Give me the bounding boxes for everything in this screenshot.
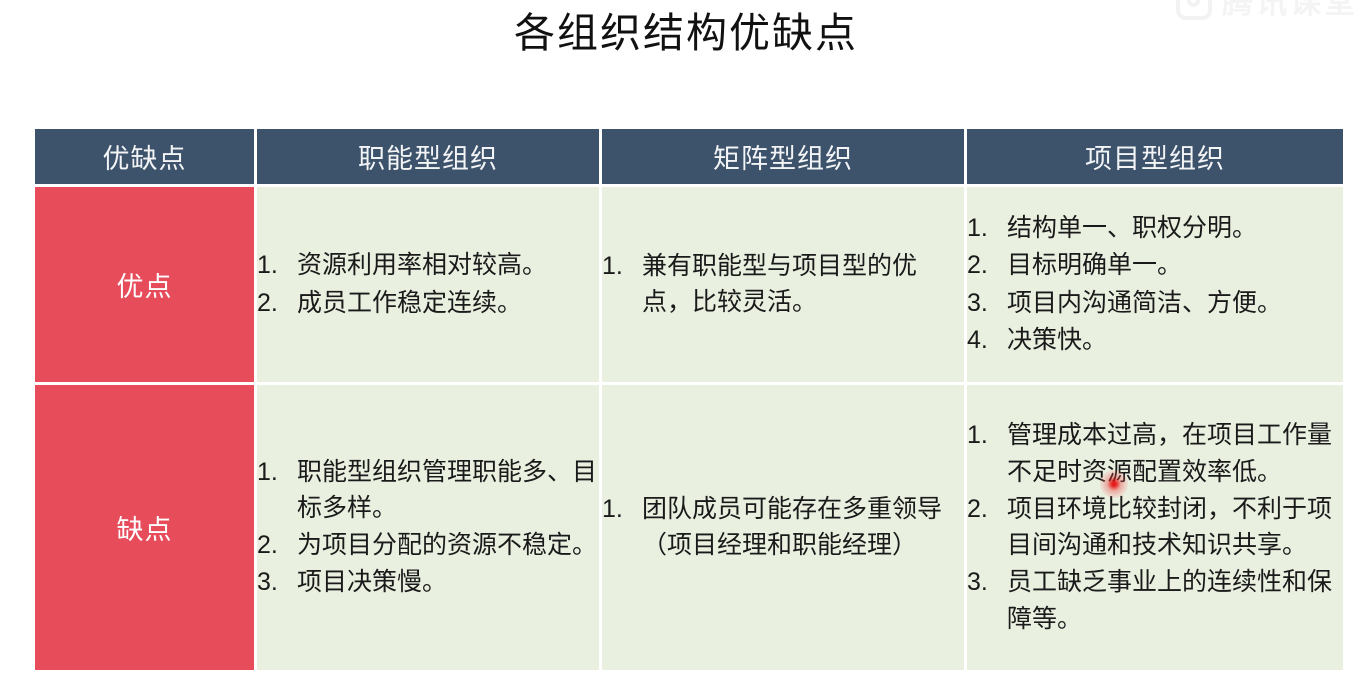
list-item-text: 项目决策慢。 <box>297 568 447 596</box>
list-item-text: 目标明确单一。 <box>1007 251 1182 279</box>
row-label-pros: 优点 <box>35 187 254 382</box>
list-item: 2.为项目分配的资源不稳定。 <box>257 527 599 563</box>
list-item-number: 3. <box>967 564 1001 600</box>
table-header-row: 优缺点 职能型组织 矩阵型组织 项目型组织 <box>35 129 1343 184</box>
list-item: 3.项目决策慢。 <box>257 564 599 600</box>
table-row: 优点 1.资源利用率相对较高。 2.成员工作稳定连续。 1.兼 <box>35 187 1343 382</box>
cell-pros-projectized: 1.结构单一、职权分明。 2.目标明确单一。 3.项目内沟通简洁、方便。 4.决… <box>967 187 1343 382</box>
list-item-number: 2. <box>257 527 291 563</box>
list-cons-projectized: 1.管理成本过高，在项目工作量不足时资源配置效率低。 2.项目环境比较封闭，不利… <box>967 417 1343 637</box>
list-item-number: 2. <box>967 491 1001 527</box>
list-item-text: 决策快。 <box>1007 326 1107 354</box>
list-cons-functional: 1.职能型组织管理职能多、目标多样。 2.为项目分配的资源不稳定。 3.项目决策… <box>257 454 599 601</box>
list-item-text: 员工缺乏事业上的连续性和保障等。 <box>1007 568 1332 632</box>
list-pros-functional: 1.资源利用率相对较高。 2.成员工作稳定连续。 <box>257 247 599 321</box>
table-header: 优缺点 职能型组织 矩阵型组织 项目型组织 <box>35 129 1343 184</box>
comparison-table: 优缺点 职能型组织 矩阵型组织 项目型组织 优点 1.资源利用率相对较高。 2.… <box>32 126 1346 673</box>
list-item: 1.管理成本过高，在项目工作量不足时资源配置效率低。 <box>967 417 1343 490</box>
table-header-cell-matrix: 矩阵型组织 <box>602 129 964 184</box>
list-item-text: 职能型组织管理职能多、目标多样。 <box>297 458 597 522</box>
table-row: 缺点 1.职能型组织管理职能多、目标多样。 2.为项目分配的资源不稳定。 3.项… <box>35 385 1343 670</box>
comparison-table-container: 优缺点 职能型组织 矩阵型组织 项目型组织 优点 1.资源利用率相对较高。 2.… <box>32 126 1337 673</box>
list-item-number: 1. <box>602 248 636 284</box>
list-item-number: 2. <box>257 285 291 321</box>
list-item: 1.兼有职能型与项目型的优点，比较灵活。 <box>602 248 964 321</box>
list-item-text: 管理成本过高，在项目工作量不足时资源配置效率低。 <box>1007 421 1332 485</box>
cell-cons-functional: 1.职能型组织管理职能多、目标多样。 2.为项目分配的资源不稳定。 3.项目决策… <box>257 385 599 670</box>
list-pros-projectized: 1.结构单一、职权分明。 2.目标明确单一。 3.项目内沟通简洁、方便。 4.决… <box>967 210 1343 358</box>
list-item-number: 4. <box>967 322 1001 358</box>
list-item-text: 兼有职能型与项目型的优点，比较灵活。 <box>642 252 917 316</box>
list-item-number: 2. <box>967 247 1001 283</box>
list-item: 3.员工缺乏事业上的连续性和保障等。 <box>967 564 1343 637</box>
list-item: 3.项目内沟通简洁、方便。 <box>967 285 1343 321</box>
list-item-number: 1. <box>967 210 1001 246</box>
list-item-number: 3. <box>967 285 1001 321</box>
table-header-cell-projectized: 项目型组织 <box>967 129 1343 184</box>
table-header-cell-functional: 职能型组织 <box>257 129 599 184</box>
list-item: 1.职能型组织管理职能多、目标多样。 <box>257 454 599 527</box>
cell-pros-matrix: 1.兼有职能型与项目型的优点，比较灵活。 <box>602 187 964 382</box>
page-title: 各组织结构优缺点 <box>0 6 1372 61</box>
list-item: 4.决策快。 <box>967 322 1343 358</box>
cell-cons-matrix: 1.团队成员可能存在多重领导（项目经理和职能经理） <box>602 385 964 670</box>
list-item-text: 结构单一、职权分明。 <box>1007 214 1257 242</box>
list-item: 1.结构单一、职权分明。 <box>967 210 1343 246</box>
row-label-cons: 缺点 <box>35 385 254 670</box>
cell-pros-functional: 1.资源利用率相对较高。 2.成员工作稳定连续。 <box>257 187 599 382</box>
list-item-number: 3. <box>257 564 291 600</box>
list-item-number: 1. <box>602 491 636 527</box>
list-item-text: 项目环境比较封闭，不利于项目间沟通和技术知识共享。 <box>1007 495 1332 559</box>
list-item: 2.成员工作稳定连续。 <box>257 285 599 321</box>
list-item-number: 1. <box>967 417 1001 453</box>
list-item-text: 项目内沟通简洁、方便。 <box>1007 289 1282 317</box>
list-item-text: 为项目分配的资源不稳定。 <box>297 531 597 559</box>
table-header-cell-criteria: 优缺点 <box>35 129 254 184</box>
list-item: 1.团队成员可能存在多重领导（项目经理和职能经理） <box>602 491 964 564</box>
list-cons-matrix: 1.团队成员可能存在多重领导（项目经理和职能经理） <box>602 491 964 564</box>
list-item: 2.目标明确单一。 <box>967 247 1343 283</box>
list-item: 1.资源利用率相对较高。 <box>257 247 599 283</box>
list-item-text: 成员工作稳定连续。 <box>297 289 522 317</box>
list-pros-matrix: 1.兼有职能型与项目型的优点，比较灵活。 <box>602 248 964 321</box>
cell-cons-projectized: 1.管理成本过高，在项目工作量不足时资源配置效率低。 2.项目环境比较封闭，不利… <box>967 385 1343 670</box>
table-body: 优点 1.资源利用率相对较高。 2.成员工作稳定连续。 1.兼 <box>35 187 1343 670</box>
list-item-number: 1. <box>257 247 291 283</box>
list-item: 2.项目环境比较封闭，不利于项目间沟通和技术知识共享。 <box>967 491 1343 564</box>
list-item-text: 团队成员可能存在多重领导（项目经理和职能经理） <box>642 495 942 559</box>
list-item-number: 1. <box>257 454 291 490</box>
list-item-text: 资源利用率相对较高。 <box>297 251 547 279</box>
